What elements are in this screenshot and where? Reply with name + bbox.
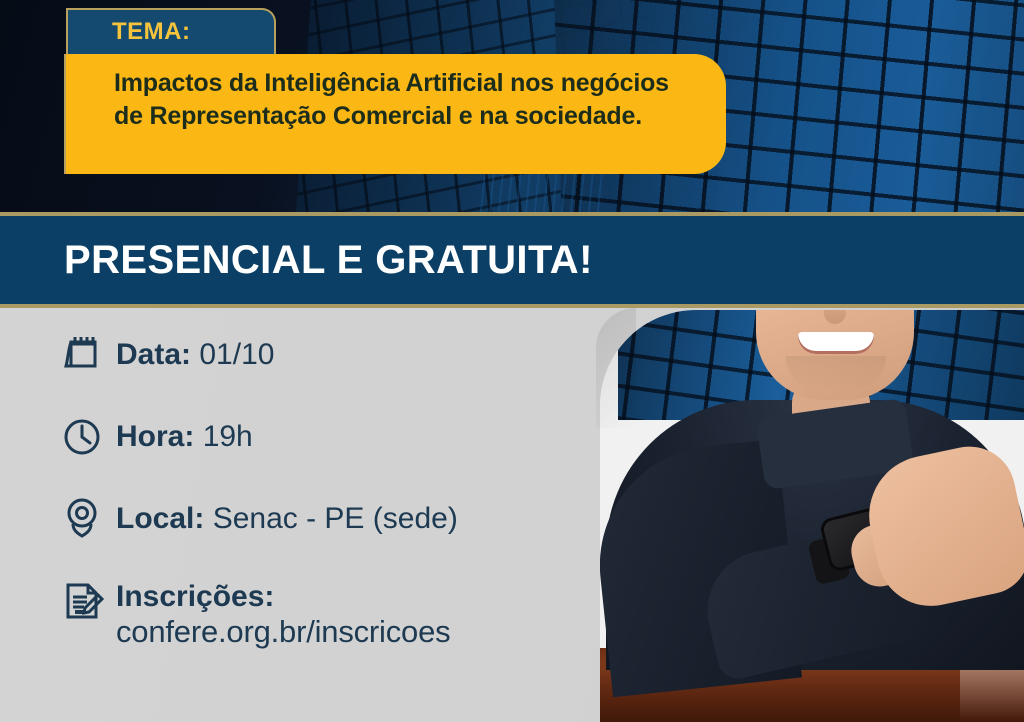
date-value: 01/10 <box>199 338 274 371</box>
detail-row-registration: Inscrições: confere.org.br/inscricoes <box>60 578 600 650</box>
event-details-list: Data: 01/10 Hora: 19h <box>60 332 600 650</box>
smiling-mouth <box>798 332 874 354</box>
speaker-photo-panel <box>600 310 1024 722</box>
registration-text: Inscrições: confere.org.br/inscricoes <box>116 578 450 650</box>
detail-row-place: Local: Senac - PE (sede) <box>60 496 600 542</box>
detail-row-date: Data: 01/10 <box>60 332 600 378</box>
speaker-portrait <box>600 310 1024 722</box>
place-text: Local: Senac - PE (sede) <box>116 501 458 536</box>
document-pencil-icon <box>60 578 116 624</box>
tema-label: TEMA: <box>112 18 190 46</box>
time-label: Hora: <box>116 420 194 453</box>
location-pin-icon <box>60 496 116 542</box>
time-text: Hora: 19h <box>116 419 253 454</box>
clock-icon <box>60 414 116 460</box>
detail-row-time: Hora: 19h <box>60 414 600 460</box>
event-title: Impactos da Inteligência Artificial nos … <box>114 67 700 134</box>
banner-text: PRESENCIAL E GRATUITA! <box>64 238 593 283</box>
place-label: Local: <box>116 502 204 535</box>
registration-url[interactable]: confere.org.br/inscricoes <box>116 614 450 650</box>
time-value: 19h <box>203 420 253 453</box>
calendar-icon <box>60 332 116 378</box>
tema-badge: TEMA: <box>66 8 276 54</box>
registration-label: Inscrições: <box>116 580 450 614</box>
date-text: Data: 01/10 <box>116 337 274 372</box>
free-onsite-banner: PRESENCIAL E GRATUITA! <box>0 212 1024 308</box>
date-label: Data: <box>116 338 191 371</box>
place-value: Senac - PE (sede) <box>213 502 458 535</box>
title-card: Impactos da Inteligência Artificial nos … <box>66 54 726 174</box>
event-flyer: TEMA: Impactos da Inteligência Artificia… <box>0 0 1024 722</box>
